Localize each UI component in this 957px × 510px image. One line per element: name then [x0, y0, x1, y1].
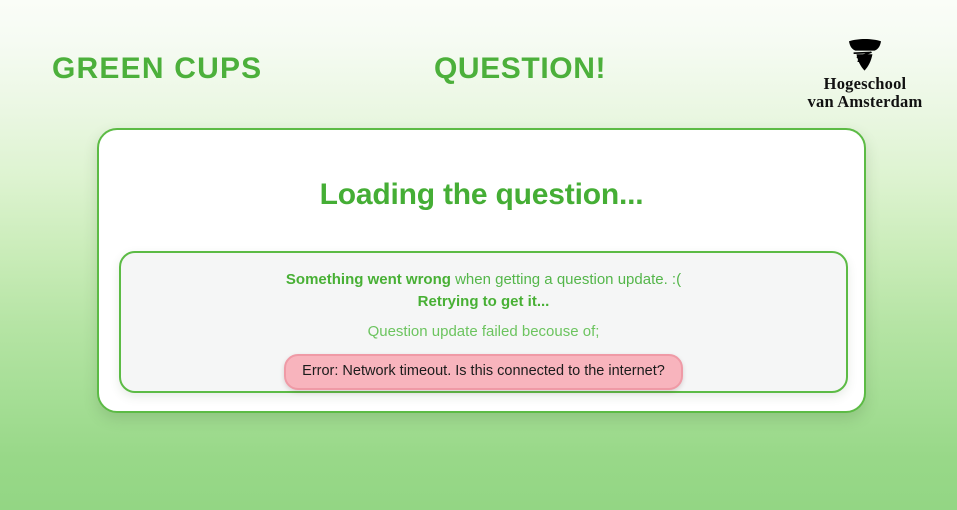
- app-root: GREEN CUPS QUESTION! Hogeschool van Amst…: [0, 0, 957, 510]
- hva-shield-icon: [845, 38, 885, 72]
- status-error-line: Something went wrong when getting a ques…: [121, 269, 846, 291]
- status-error-bold: Something went wrong: [286, 271, 451, 288]
- status-reason-line: Question update failed becouse of;: [121, 321, 846, 343]
- question-card: Loading the question... Something went w…: [97, 128, 866, 413]
- brand-title: GREEN CUPS: [52, 52, 262, 86]
- page-title: QUESTION!: [434, 52, 606, 86]
- status-retry-line: Retrying to get it...: [121, 291, 846, 313]
- status-panel: Something went wrong when getting a ques…: [119, 251, 848, 393]
- page-header: GREEN CUPS QUESTION! Hogeschool van Amst…: [0, 44, 957, 106]
- loading-heading: Loading the question...: [99, 178, 864, 212]
- hva-logo: Hogeschool van Amsterdam: [795, 38, 935, 111]
- hva-logo-line-1: Hogeschool: [795, 75, 935, 93]
- error-detail-container: Error: Network timeout. Is this connecte…: [121, 354, 846, 390]
- status-error-rest: when getting a question update. :(: [451, 271, 681, 288]
- hva-logo-line-2: van Amsterdam: [795, 93, 935, 111]
- hva-logo-text: Hogeschool van Amsterdam: [795, 75, 935, 111]
- error-detail-badge: Error: Network timeout. Is this connecte…: [284, 354, 683, 390]
